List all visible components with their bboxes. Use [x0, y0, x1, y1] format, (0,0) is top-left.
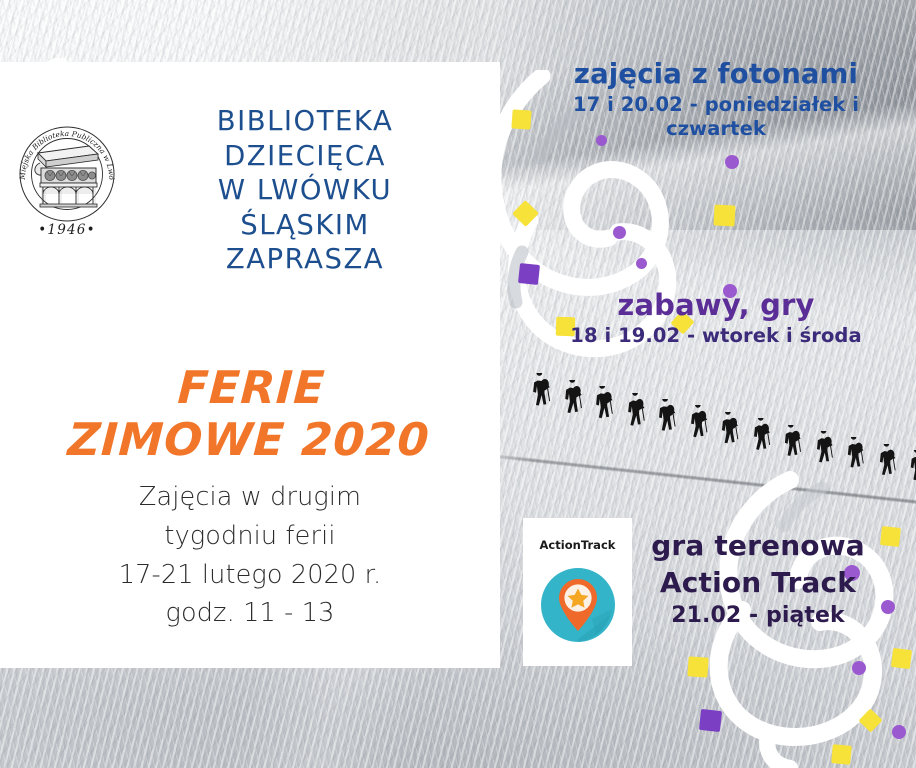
library-title: BIBLIOTEKA DZIECIĘCA W LWÓWKU ŚLĄSKIM ZA… [140, 104, 470, 277]
details-line-2: tygodniu ferii [0, 517, 500, 556]
library-title-line-3: W LWÓWKU [140, 173, 470, 208]
hiker-silhouette [560, 380, 584, 417]
hikers-silhouette-row [490, 378, 916, 493]
library-title-line-5: ZAPRASZA [140, 242, 470, 277]
hiker-silhouette [875, 444, 898, 479]
details-line-1: Zajęcia w drugim [0, 478, 500, 517]
event-gra-subline-1: 21.02 - piątek [600, 603, 916, 629]
event-details-text: Zajęcia w drugim tygodniu ferii 17-21 lu… [0, 478, 500, 633]
library-title-line-2: DZIECIĘCA [140, 139, 470, 174]
action-track-card: ActionTrack [523, 518, 632, 666]
ferie-line-1: FERIE [0, 365, 502, 411]
hiker-silhouette [528, 373, 552, 411]
event-fotony-subline-1: 17 i 20.02 - poniedziałek i [516, 93, 916, 116]
library-crest-logo: Powiatowa i Miejska Biblioteka Publiczna… [8, 112, 126, 240]
ferie-headline: FERIE ZIMOWE 2020 [0, 365, 503, 463]
poster-canvas: Powiatowa i Miejska Biblioteka Publiczna… [0, 0, 916, 768]
hiker-silhouette [654, 399, 678, 436]
left-white-panel: Powiatowa i Miejska Biblioteka Publiczna… [0, 62, 500, 668]
hiker-silhouette [906, 450, 916, 485]
hiker-silhouette [749, 418, 772, 454]
details-line-4: godz. 11 - 13 [0, 594, 500, 633]
hiker-silhouette [591, 386, 615, 423]
event-fotony-heading: zajęcia z fotonami [516, 58, 916, 90]
crest-year: •1946• [38, 222, 95, 238]
hiker-silhouette [780, 425, 803, 461]
event-fotony-subline-2: czwartek [516, 117, 916, 140]
hiker-silhouette [717, 412, 741, 448]
library-header-row: Powiatowa i Miejska Biblioteka Publiczna… [8, 104, 498, 277]
event-block-gra-terenowa: gra terenowa Action Track 21.02 - piątek [600, 528, 916, 629]
library-title-line-1: BIBLIOTEKA [140, 104, 470, 139]
event-block-fotony: zajęcia z fotonami 17 i 20.02 - poniedzi… [516, 58, 916, 140]
details-line-3: 17-21 lutego 2020 r. [0, 556, 500, 595]
action-track-label: ActionTrack [540, 538, 616, 552]
ferie-line-2: ZIMOWE 2020 [0, 417, 500, 463]
event-gra-heading-2: Action Track [600, 565, 916, 602]
event-zabawy-heading: zabawy, gry [516, 288, 916, 322]
event-gra-heading-1: gra terenowa [600, 528, 916, 565]
event-block-zabawy: zabawy, gry 18 i 19.02 - wtorek i środa [516, 288, 916, 348]
hiker-silhouette [812, 431, 835, 467]
hiker-silhouette [623, 393, 647, 430]
hiker-silhouette [686, 405, 710, 441]
hiker-silhouette [843, 437, 866, 472]
map-pin-star-icon [536, 563, 620, 647]
event-zabawy-subline-1: 18 i 19.02 - wtorek i środa [516, 324, 916, 347]
library-title-line-4: ŚLĄSKIM [140, 208, 470, 243]
